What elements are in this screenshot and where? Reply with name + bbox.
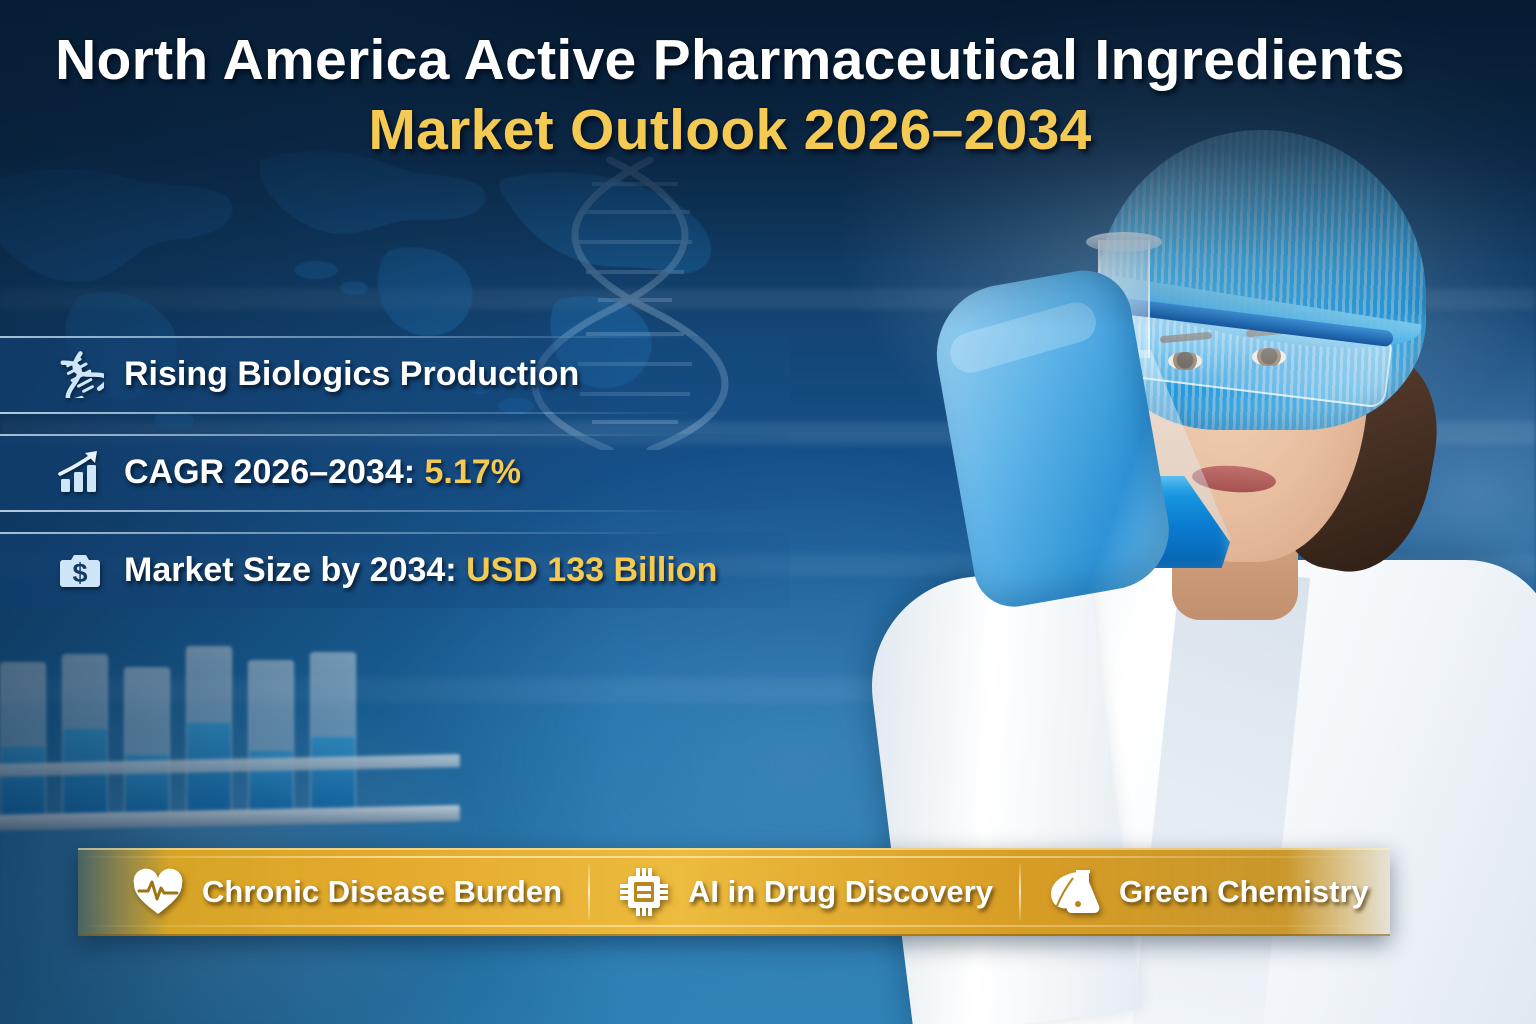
stat-gap-1: [0, 412, 790, 434]
stat-row-market-size: $ Market Size by 2034: USD 133 Billion: [0, 532, 790, 608]
stat-row-cagr: CAGR 2026–2034: 5.17%: [0, 434, 790, 510]
stat-gap-2: [0, 510, 790, 532]
stat-value-cagr: 5.17%: [425, 453, 521, 491]
stat-label-cagr: CAGR 2026–2034: 5.17%: [124, 453, 521, 492]
banner-item-chronic-disease[interactable]: Chronic Disease Burden: [104, 864, 588, 920]
stat-label-biologics: Rising Biologics Production: [124, 355, 579, 394]
banner-label-ai-drug-discovery: AI in Drug Discovery: [688, 874, 993, 910]
stat-divider: [0, 532, 690, 534]
title-line-2: Market Outlook 2026–2034: [0, 100, 1460, 160]
stat-value-market-size: USD 133 Billion: [466, 551, 717, 589]
heart-pulse-icon: [130, 864, 186, 920]
bottom-feature-banner: Chronic Disease Burden AI: [78, 848, 1390, 936]
stat-divider: [0, 336, 690, 338]
banner-item-green-chemistry[interactable]: Green Chemistry: [1021, 864, 1395, 920]
microchip-ai-icon: [616, 864, 672, 920]
dna-icon: [56, 350, 104, 398]
stat-divider: [0, 434, 690, 436]
leaf-flask-icon: [1047, 864, 1103, 920]
svg-text:$: $: [72, 558, 87, 588]
stat-row-biologics: Rising Biologics Production: [0, 336, 790, 412]
page-title: North America Active Pharmaceutical Ingr…: [0, 30, 1460, 161]
title-line-1: North America Active Pharmaceutical Ingr…: [0, 30, 1460, 90]
stat-label-market-size: Market Size by 2034: USD 133 Billion: [124, 551, 717, 590]
banner-label-chronic-disease: Chronic Disease Burden: [202, 874, 562, 910]
growth-chart-icon: [56, 448, 104, 496]
banner-item-ai-drug-discovery[interactable]: AI in Drug Discovery: [590, 864, 1019, 920]
key-stats-list: Rising Biologics Production CAGR 2026–20…: [0, 336, 790, 608]
banner-label-green-chemistry: Green Chemistry: [1119, 874, 1369, 910]
money-bag-dollar-icon: $: [56, 546, 104, 594]
infographic-canvas: North America Active Pharmaceutical Ingr…: [0, 0, 1536, 1024]
